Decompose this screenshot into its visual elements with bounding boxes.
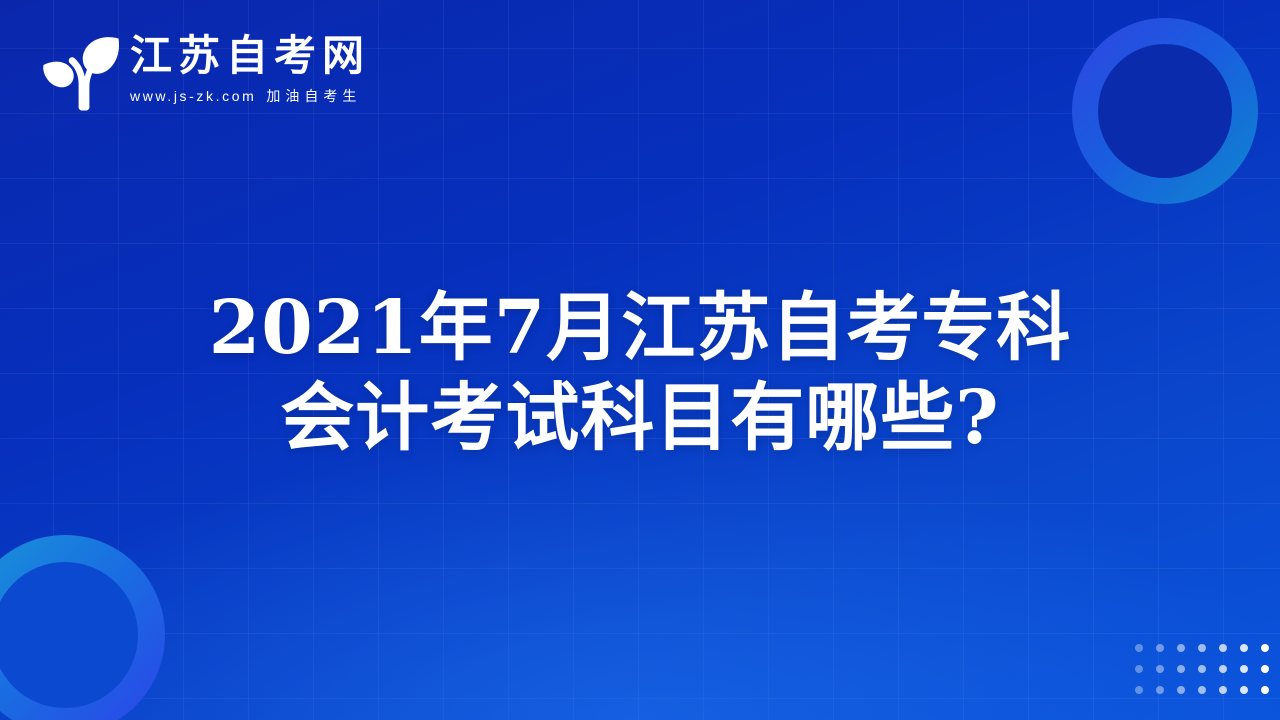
page-title: 2021年7月江苏自考专科 会计考试科目有哪些?	[0, 283, 1280, 464]
grid-dot	[1156, 665, 1164, 673]
site-url: www.js-zk.com	[130, 88, 256, 104]
grid-dot	[1198, 686, 1206, 694]
grid-dot	[1219, 665, 1227, 673]
grid-dot	[1177, 686, 1185, 694]
poster-canvas: 江苏自考网 www.js-zk.com 加油自考生 2021年7月江苏自考专科 …	[0, 0, 1280, 720]
grid-dot	[1240, 665, 1248, 673]
grid-dot	[1177, 644, 1185, 652]
brand-name: 江苏自考网	[130, 34, 370, 78]
grid-dot	[1240, 686, 1248, 694]
grid-dot	[1135, 644, 1143, 652]
sprout-leaf-icon	[34, 24, 126, 116]
grid-dot	[1135, 665, 1143, 673]
ring-inner-mask	[0, 562, 138, 708]
grid-dot	[1156, 686, 1164, 694]
ring-outline-top-right-icon	[1072, 18, 1258, 204]
grid-dot	[1198, 665, 1206, 673]
grid-dot	[1135, 686, 1143, 694]
site-logo[interactable]: 江苏自考网 www.js-zk.com 加油自考生	[34, 24, 370, 116]
ring-outline-bottom-left-icon	[0, 535, 165, 720]
grid-dot	[1261, 644, 1269, 652]
grid-dot	[1198, 644, 1206, 652]
grid-dot	[1219, 644, 1227, 652]
grid-dot	[1261, 686, 1269, 694]
page-title-line-2: 会计考试科目有哪些?	[0, 373, 1280, 463]
grid-dot	[1156, 644, 1164, 652]
grid-dot	[1219, 686, 1227, 694]
slogan-text: 加油自考生	[266, 86, 361, 106]
logo-text-block: 江苏自考网 www.js-zk.com 加油自考生	[130, 34, 370, 105]
logo-tagline: www.js-zk.com 加油自考生	[130, 86, 370, 106]
ring-inner-mask	[1098, 44, 1232, 178]
grid-dot	[1240, 644, 1248, 652]
dot-grid-decoration	[1128, 637, 1275, 700]
page-title-line-1: 2021年7月江苏自考专科	[0, 283, 1280, 373]
grid-dot	[1261, 665, 1269, 673]
grid-dot	[1177, 665, 1185, 673]
